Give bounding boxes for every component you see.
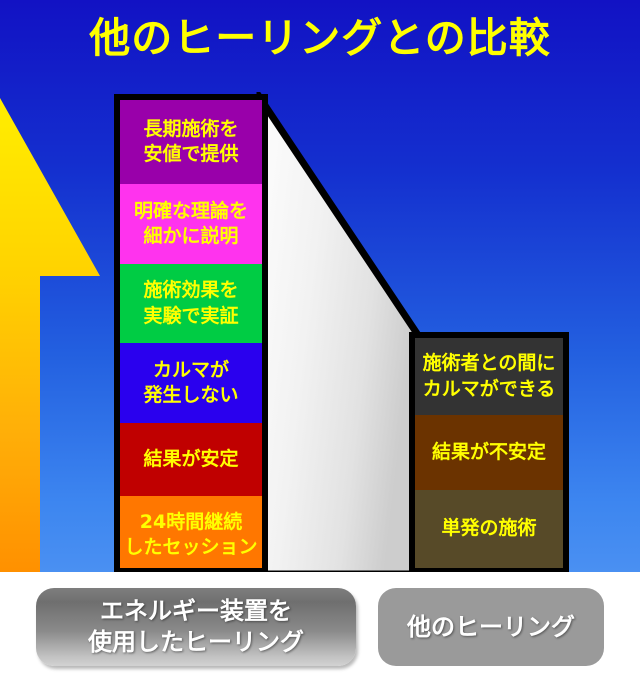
cell-line: カルマができる <box>423 377 556 402</box>
benefit-cell-5: 24時間継続 したセッション <box>120 496 262 572</box>
benefit-cell-1: 明確な理論を 細かに説明 <box>120 184 262 264</box>
legend-button-other-healing[interactable]: 他のヒーリング <box>378 588 604 666</box>
cell-line: 施術効果を <box>143 278 238 303</box>
cell-line: 結果が安定 <box>143 447 238 472</box>
cell-line: カルマが <box>153 358 229 383</box>
legend-line: エネルギー装置を <box>100 597 292 625</box>
cell-line: 結果が不安定 <box>432 440 546 465</box>
cell-line: 24時間継続 <box>140 510 242 535</box>
legend-line: 他のヒーリング <box>407 613 575 641</box>
up-arrow-icon <box>0 96 102 572</box>
cell-line: 長期施術を <box>143 117 238 142</box>
cell-line: 明確な理論を <box>134 199 248 224</box>
benefit-cell-4: 結果が安定 <box>120 423 262 496</box>
benefit-cell-2: 施術効果を 実験で実証 <box>120 264 262 343</box>
cell-line: 単発の施術 <box>441 516 536 541</box>
legend-button-energy-device-healing[interactable]: エネルギー装置を 使用したヒーリング <box>36 588 356 666</box>
benefit-cell-0: 長期施術を 安値で提供 <box>120 100 262 184</box>
cell-line: したセッション <box>124 535 257 560</box>
page-title: 他のヒーリングとの比較 <box>0 16 640 61</box>
comparison-column-right: 施術者との間に カルマができる 結果が不安定 単発の施術 <box>409 332 569 572</box>
cell-line: 細かに説明 <box>143 224 238 249</box>
legend-line: 使用したヒーリング <box>88 628 304 656</box>
drawback-cell-0: 施術者との間に カルマができる <box>415 338 563 415</box>
cell-line: 実験で実証 <box>143 304 238 329</box>
benefit-cell-3: カルマが 発生しない <box>120 343 262 423</box>
legend-bar: エネルギー装置を 使用したヒーリング 他のヒーリング <box>0 572 640 700</box>
drawback-cell-2: 単発の施術 <box>415 490 563 568</box>
comparison-column-left: 長期施術を 安値で提供 明確な理論を 細かに説明 施術効果を 実験で実証 カルマ… <box>114 94 268 572</box>
drawback-cell-1: 結果が不安定 <box>415 415 563 490</box>
ramp-wedge-icon <box>250 92 430 572</box>
slide-canvas: 他のヒーリングとの比較 <box>0 0 640 700</box>
cell-line: 発生しない <box>143 383 238 408</box>
blue-background-panel: 他のヒーリングとの比較 <box>0 0 640 572</box>
cell-line: 安値で提供 <box>143 142 238 167</box>
cell-line: 施術者との間に <box>423 351 556 376</box>
